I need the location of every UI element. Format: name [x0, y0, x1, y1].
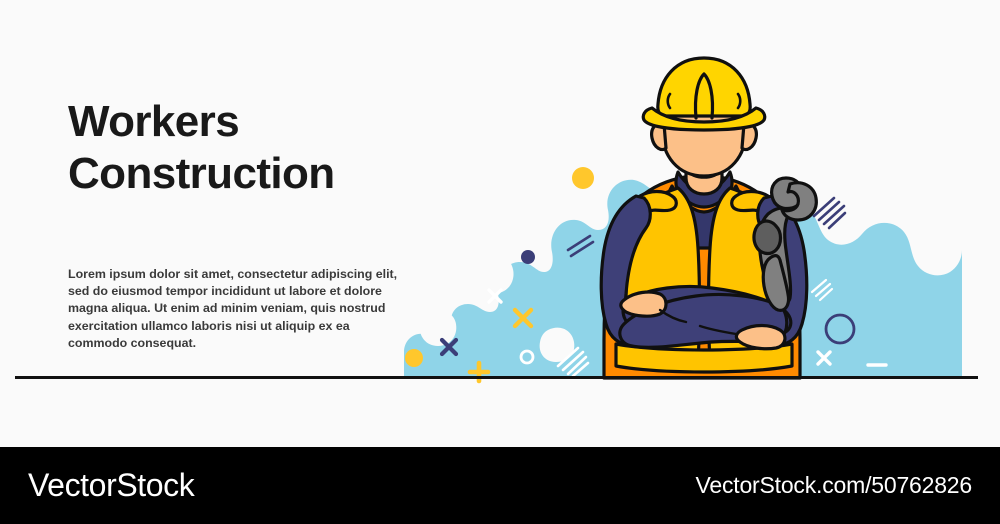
vectorstock-logo: VectorStock — [28, 467, 194, 504]
page-title: Workers Construction — [68, 96, 408, 200]
yellow-dot-left-icon — [405, 349, 423, 367]
blob-white-notch-2 — [420, 310, 457, 346]
banner-stage: Workers Construction Lorem ipsum dolor s… — [0, 0, 1000, 524]
navy-hatch-right-icon — [814, 198, 845, 228]
vectorstock-url: VectorStock.com/50762826 — [696, 472, 973, 499]
worker-construction-illustration — [0, 0, 1000, 447]
worker-hard-hat-dome — [658, 58, 750, 116]
worker-figure-group — [601, 58, 816, 378]
wrench-lower-jaw — [754, 221, 781, 253]
yellow-dot-large-icon — [572, 167, 594, 189]
worker-hand-right — [736, 326, 785, 349]
body-paragraph: Lorem ipsum dolor sit amet, consectetur … — [68, 266, 398, 352]
headline-block: Workers Construction — [68, 96, 408, 200]
watermark-footer: VectorStock VectorStock.com/50762826 — [0, 447, 1000, 524]
navy-dot-small-icon — [521, 250, 535, 264]
illustration-canvas: Workers Construction Lorem ipsum dolor s… — [0, 0, 1000, 447]
blob-white-notch-1 — [474, 255, 513, 293]
horizontal-rule — [15, 376, 978, 379]
